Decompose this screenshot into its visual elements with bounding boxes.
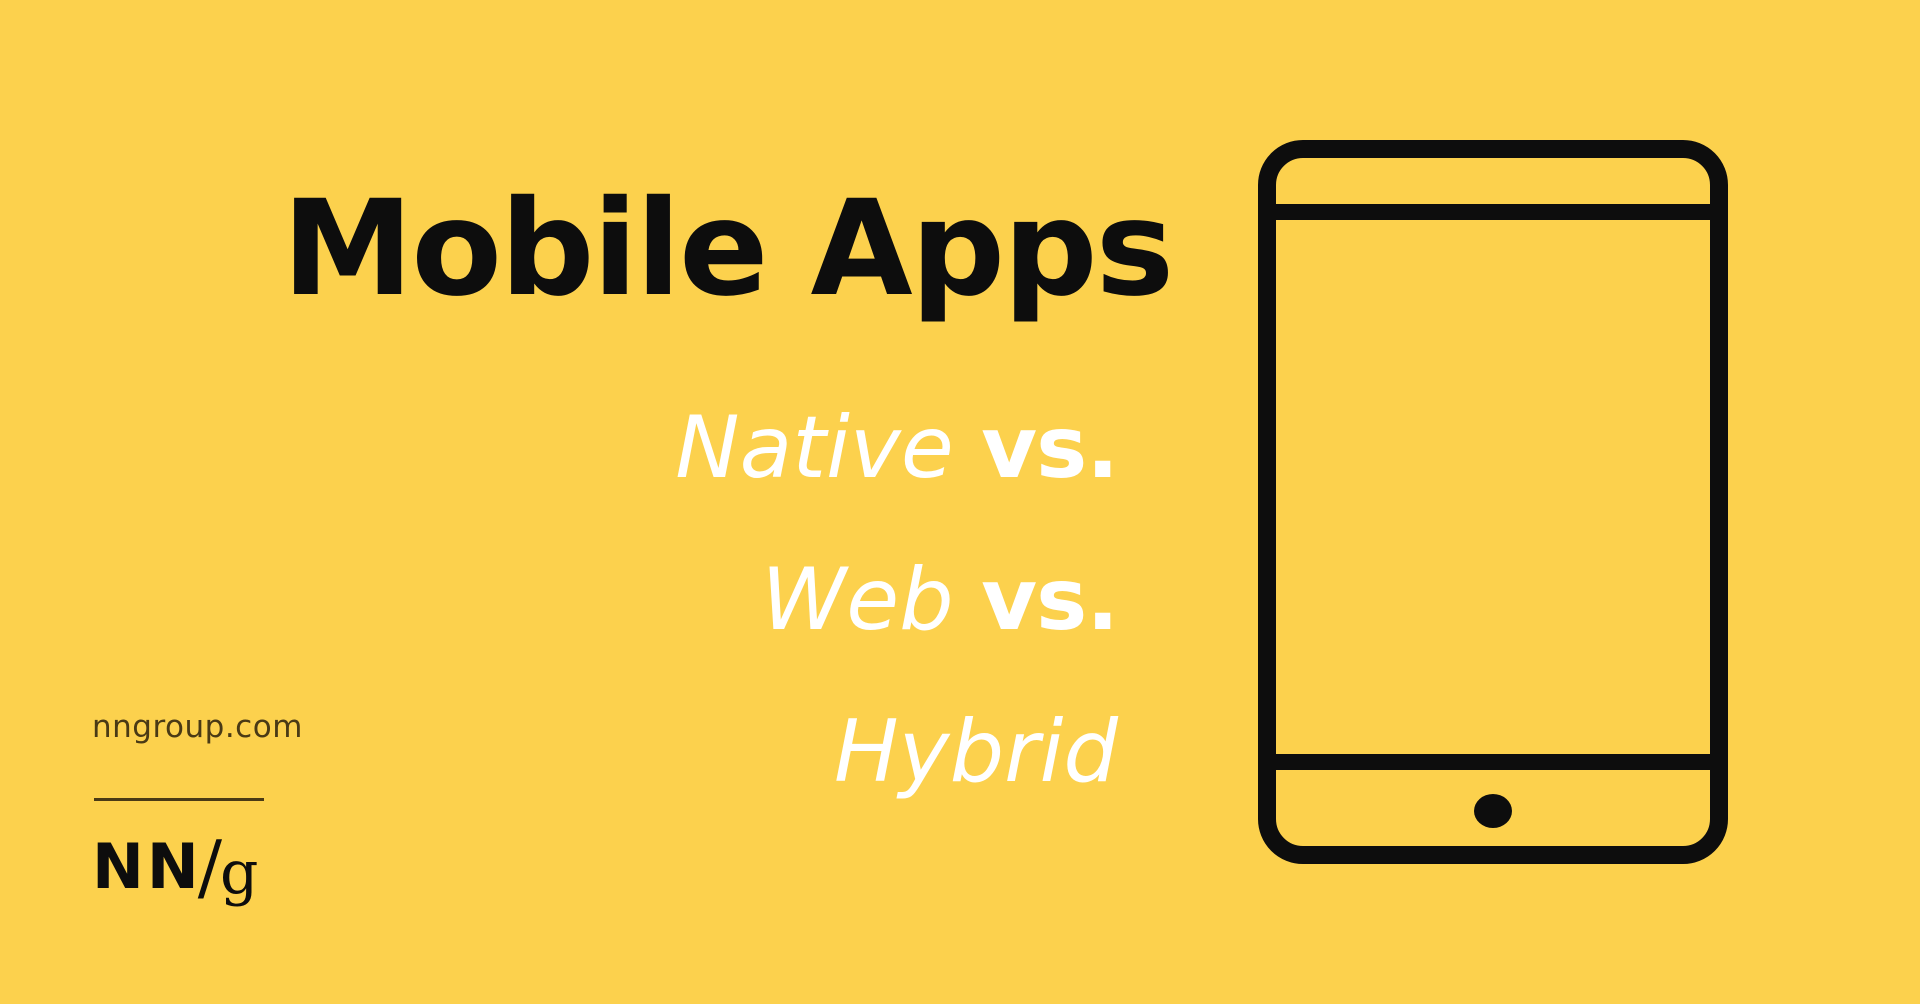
logo-mark-slash: / [198,825,222,909]
subtitle-term-native: Native [675,398,953,498]
logo-divider-rule [94,798,264,801]
poster-canvas: Mobile Apps Native vs. Web vs. Hybrid nn… [0,0,1920,1004]
subtitle-term-hybrid: Hybrid [834,702,1118,802]
logo-website-url: nngroup.com [92,712,392,743]
subtitle-line-native: Native vs. [0,372,1118,524]
home-button-icon [1474,794,1512,828]
subtitle-connector-2: vs. [981,550,1118,650]
subtitle-line-web: Web vs. [0,524,1118,676]
logo-mark-nn: NN [92,830,202,903]
nng-logo-block: nngroup.com NN/g [92,712,392,899]
nng-logo-mark: NN/g [92,827,392,899]
logo-mark-g: g [220,838,258,908]
subtitle-connector-1: vs. [981,398,1118,498]
subtitle-term-web: Web [761,550,954,650]
tablet-device-svg [1258,140,1728,864]
device-frame [1267,149,1719,855]
page-title: Mobile Apps [282,183,1172,315]
tablet-device-icon [1258,140,1728,864]
